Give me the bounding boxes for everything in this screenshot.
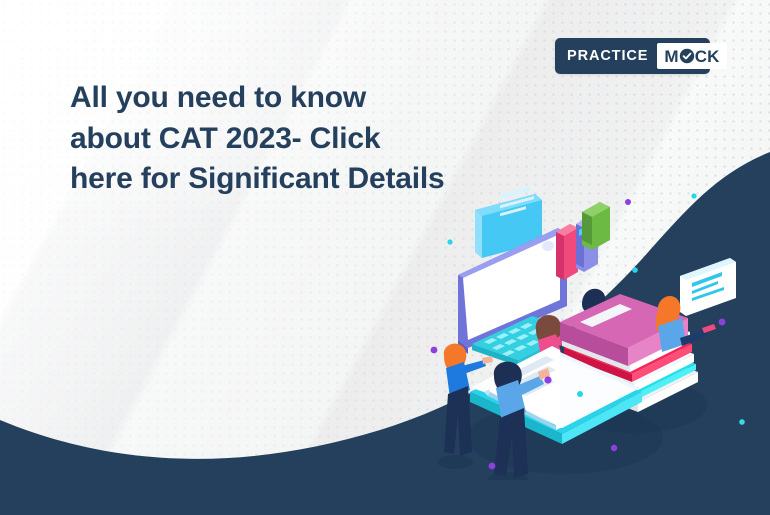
logo-mock-suffix: CK bbox=[695, 48, 720, 65]
logo-mock-box: M CK bbox=[657, 43, 726, 69]
check-in-circle-icon bbox=[679, 48, 695, 64]
person-reading-screen bbox=[656, 258, 736, 352]
logo-word-practice: PRACTICE bbox=[555, 49, 657, 64]
promo-banner: PRACTICE M CK All you need to know about… bbox=[0, 0, 770, 515]
headline-line-2: about CAT 2023- Click bbox=[70, 119, 500, 160]
logo-mock-prefix: M bbox=[664, 48, 678, 65]
logo-word-mock: M CK bbox=[664, 48, 719, 65]
isometric-study-illustration bbox=[430, 180, 760, 480]
standing-books bbox=[556, 202, 610, 280]
practicemock-logo[interactable]: PRACTICE M CK bbox=[555, 38, 710, 74]
headline-line-1: All you need to know bbox=[70, 78, 500, 119]
